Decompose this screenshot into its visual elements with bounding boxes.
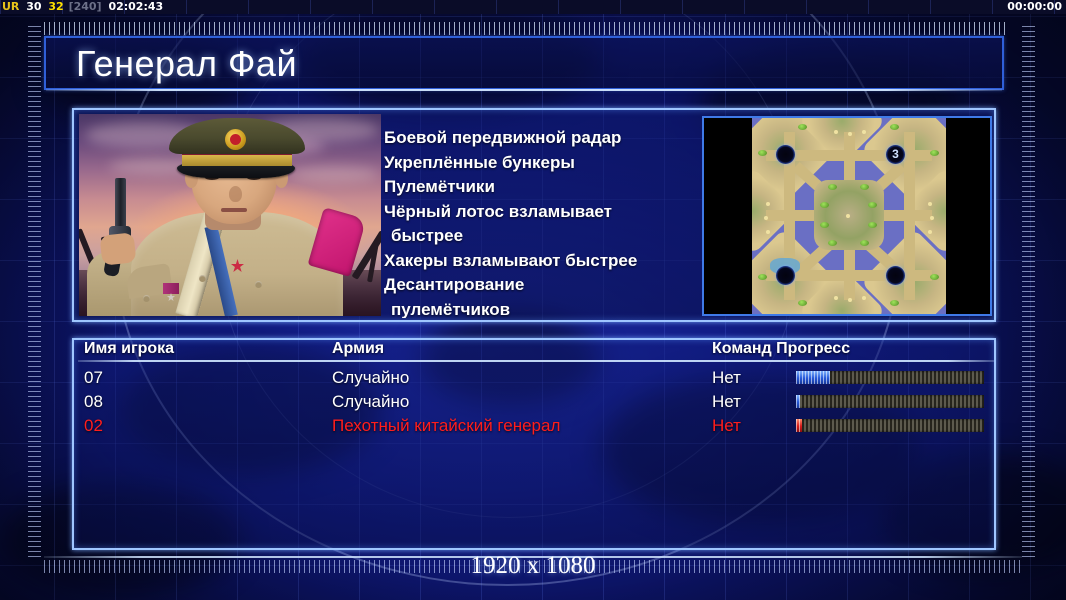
player-row[interactable]: 07СлучайноНет xyxy=(84,366,986,390)
player-progress-bar xyxy=(796,419,984,432)
ability-line: Хакеры взламывают быстрее xyxy=(384,249,698,274)
player-name: 02 xyxy=(84,414,103,438)
ability-line: Пулемётчики xyxy=(384,175,698,200)
status-label: UR xyxy=(2,0,19,13)
status-bracket: [240] xyxy=(69,0,102,13)
player-progress-fill xyxy=(796,395,800,408)
player-progress-fill xyxy=(796,419,802,432)
player-progress-bar xyxy=(796,371,984,384)
resolution-label: 1920 x 1080 xyxy=(0,552,1066,580)
title-underline xyxy=(46,89,1002,91)
player-team: Нет xyxy=(712,390,741,414)
player-team: Нет xyxy=(712,366,741,390)
player-table-header: Имя игрока Армия Команд Прогресс xyxy=(84,340,986,362)
ability-line: Боевой передвижной радар xyxy=(384,126,698,151)
player-row[interactable]: 02Пехотный китайский генералНет xyxy=(84,414,986,438)
map-start-position xyxy=(886,266,905,285)
map-start-position xyxy=(776,145,795,164)
header-team: Команд Прогресс xyxy=(712,340,850,358)
status-left-group: UR 30 32 [240] 02:02:43 xyxy=(2,0,166,14)
ruler-right xyxy=(1022,26,1035,560)
player-name: 08 xyxy=(84,390,103,414)
header-player-name: Имя игрока xyxy=(84,340,174,358)
general-portrait xyxy=(79,114,381,316)
ruler-left xyxy=(28,26,41,560)
page-title: Генерал Фай xyxy=(76,40,297,88)
ability-line: Чёрный лотос взламывает xyxy=(384,200,698,225)
clipped-line xyxy=(384,112,698,126)
header-divider xyxy=(78,360,994,362)
ruler-top xyxy=(44,22,1006,35)
player-army: Случайно xyxy=(332,366,409,390)
status-timer: 02:02:43 xyxy=(108,0,163,13)
player-progress-fill xyxy=(796,371,830,384)
player-progress-bar xyxy=(796,395,984,408)
debug-status-bar: UR 30 32 [240] 02:02:43 00:00:00 xyxy=(0,0,1066,14)
ability-line: пулемётчиков xyxy=(384,298,698,319)
ability-line: Десантирование xyxy=(384,273,698,298)
player-row[interactable]: 08СлучайноНет xyxy=(84,390,986,414)
ability-line: Укреплённые бункеры xyxy=(384,151,698,176)
map-preview[interactable]: 3 xyxy=(702,116,992,316)
title-panel: Генерал Фай xyxy=(44,36,1004,90)
player-name: 07 xyxy=(84,366,103,390)
player-team: Нет xyxy=(712,414,741,438)
general-ability-list: Боевой передвижной радарУкреплённые бунк… xyxy=(384,112,698,318)
status-value-2: 32 xyxy=(48,0,63,13)
header-army: Армия xyxy=(332,340,384,358)
map-start-label: 3 xyxy=(886,145,905,164)
map-start-position: 3 xyxy=(886,145,905,164)
ability-line: быстрее xyxy=(384,224,698,249)
player-army: Случайно xyxy=(332,390,409,414)
status-value-1: 30 xyxy=(26,0,41,13)
game-lobby-screen: Генерал Фай xyxy=(0,0,1066,600)
player-army: Пехотный китайский генерал xyxy=(332,414,560,438)
status-clock: 00:00:00 xyxy=(1007,0,1062,14)
map-start-position xyxy=(776,266,795,285)
